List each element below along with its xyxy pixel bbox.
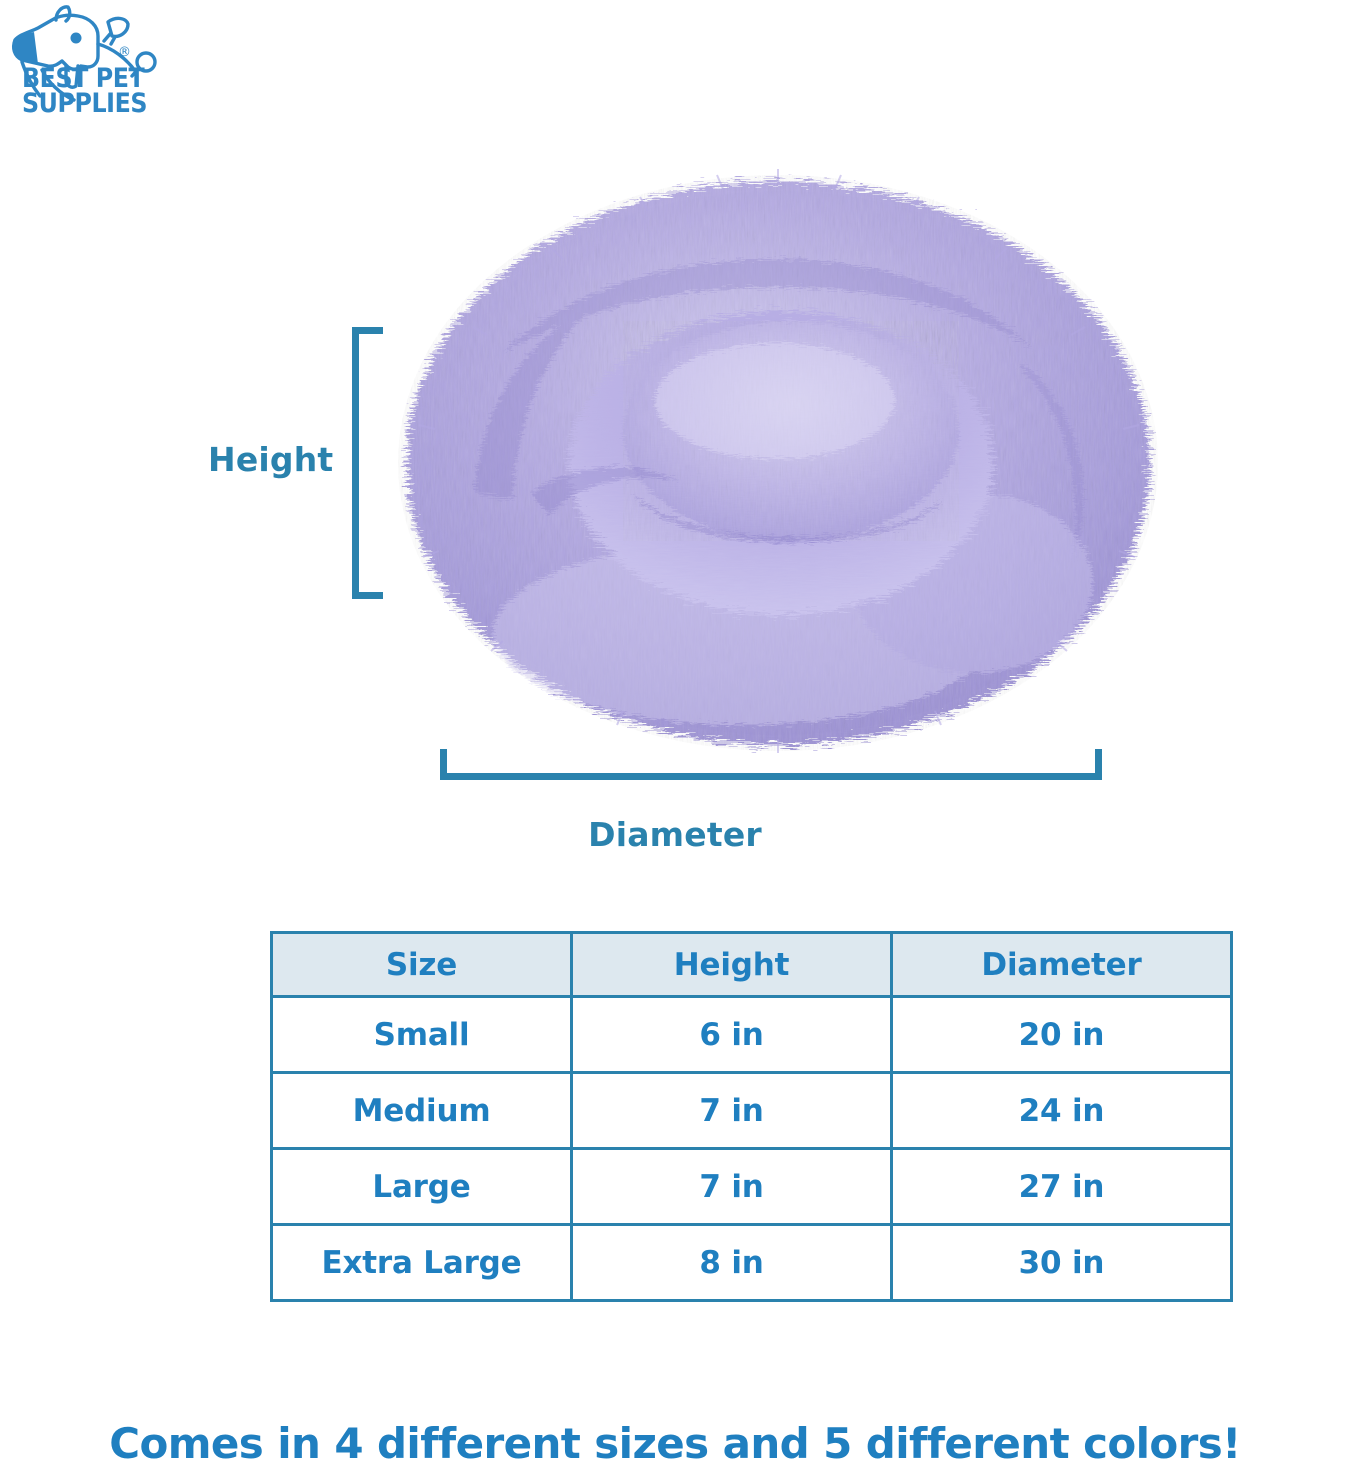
cell-height: 8 in [572,1225,892,1301]
diameter-label: Diameter [0,815,1350,854]
height-measurement-bracket [352,327,386,599]
registered-trademark-symbol: ® [118,45,131,60]
table-row: Small 6 in 20 in [272,997,1232,1073]
diameter-measurement-bracket [440,749,1102,780]
column-header-size: Size [272,933,572,997]
brand-wordmark: BEST PET SUPPLIES [22,66,145,117]
cell-diameter: 30 in [892,1225,1232,1301]
bracket-stem [352,327,359,599]
cell-height: 6 in [572,997,892,1073]
bracket-tick-left [440,749,447,778]
cell-diameter: 20 in [892,997,1232,1073]
tagline-text: Comes in 4 different sizes and 5 differe… [0,1419,1350,1468]
cell-diameter: 24 in [892,1073,1232,1149]
bracket-tick-top [352,327,383,334]
table-row: Extra Large 8 in 30 in [272,1225,1232,1301]
cell-size: Small [272,997,572,1073]
table-row: Medium 7 in 24 in [272,1073,1232,1149]
plush-donut-bed-illustration [383,163,1173,753]
size-chart-table: Size Height Diameter Small 6 in 20 in Me… [270,931,1233,1302]
cell-size: Extra Large [272,1225,572,1301]
bracket-tick-right [1095,749,1102,778]
column-header-diameter: Diameter [892,933,1232,997]
bracket-rail [440,773,1102,780]
product-image-dog-bed [383,163,1173,753]
cell-size: Large [272,1149,572,1225]
bracket-tick-bottom [352,592,383,599]
cell-diameter: 27 in [892,1149,1232,1225]
table-header-row: Size Height Diameter [272,933,1232,997]
height-label: Height [208,440,333,479]
cell-height: 7 in [572,1149,892,1225]
brand-logo: ® BEST PET SUPPLIES [8,4,168,132]
table-row: Large 7 in 27 in [272,1149,1232,1225]
cell-height: 7 in [572,1073,892,1149]
infographic-page: ® BEST PET SUPPLIES [0,0,1350,1475]
cell-size: Medium [272,1073,572,1149]
column-header-height: Height [572,933,892,997]
